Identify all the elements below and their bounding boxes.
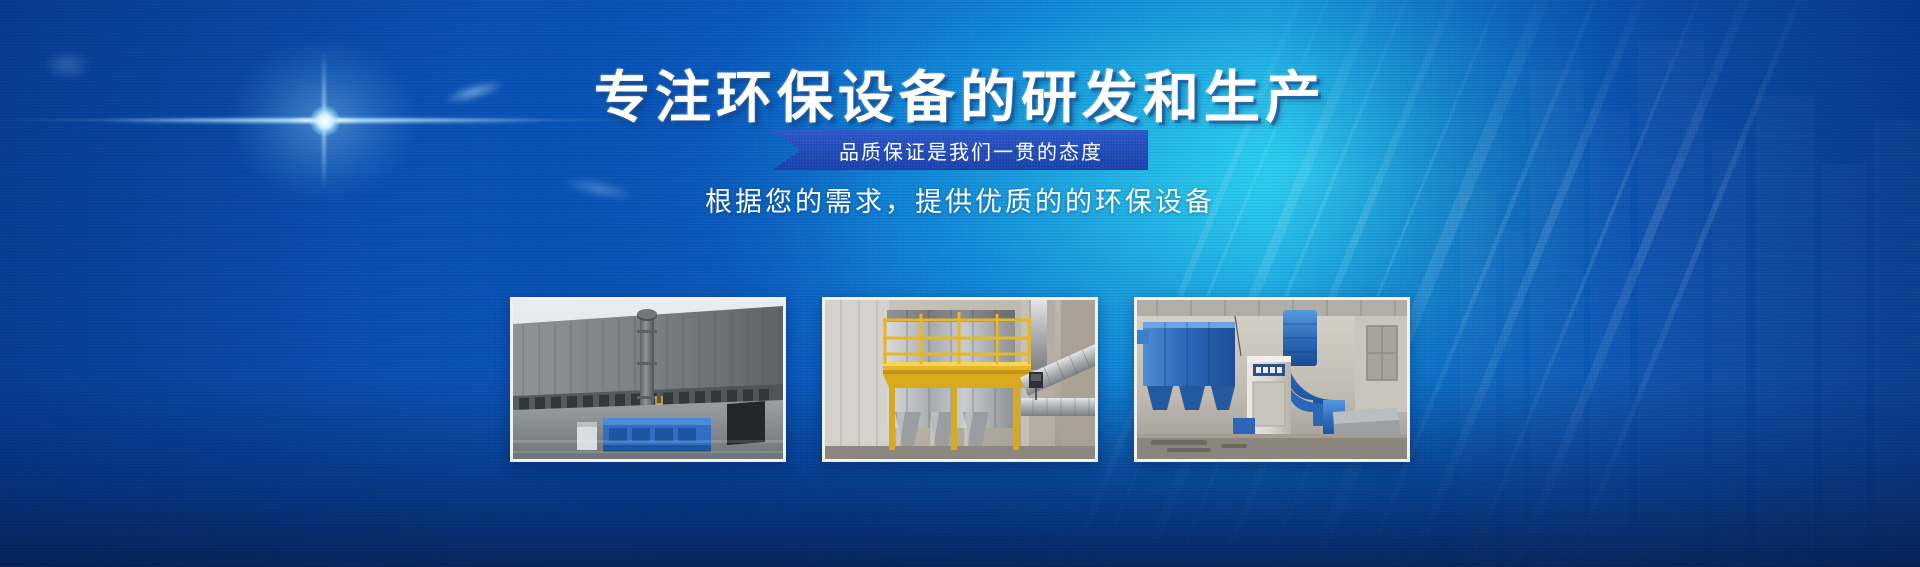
photo-blue-dust-collector[interactable]: [1134, 297, 1410, 462]
photo-factory-exterior-stack[interactable]: [510, 297, 786, 462]
ribbon-label: 品质保证是我们一贯的态度: [817, 136, 1103, 165]
hero-banner: 专注环保设备的研发和生产 品质保证是我们一贯的态度 根据您的需求，提供优质的的环…: [0, 0, 1920, 567]
photo-3-image: [1137, 300, 1407, 459]
banner-headline: 专注环保设备的研发和生产: [0, 53, 1920, 134]
photo-1-image: [513, 300, 783, 459]
ribbon-container: 品质保证是我们一贯的态度: [0, 129, 1920, 171]
ribbon-badge: 品质保证是我们一贯的态度: [772, 130, 1148, 170]
photo-strip: [0, 297, 1920, 462]
banner-subline: 根据您的需求，提供优质的的环保设备: [0, 180, 1920, 219]
banner-content: 专注环保设备的研发和生产 品质保证是我们一贯的态度 根据您的需求，提供优质的的环…: [0, 0, 1920, 567]
photo-catalytic-oxidizer-platform[interactable]: [822, 297, 1098, 462]
photo-2-image: [825, 300, 1095, 459]
